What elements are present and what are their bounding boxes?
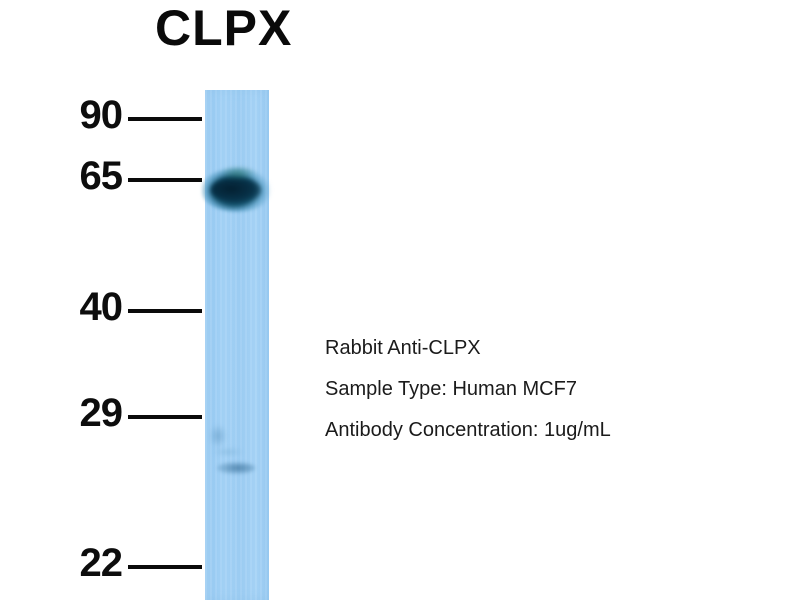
marker-tick-22 <box>128 565 202 569</box>
marker-label-29: 29 <box>80 393 123 433</box>
protein-band-65kda-core <box>211 178 261 202</box>
faint-band-middle <box>213 448 243 456</box>
marker-label-65: 65 <box>80 156 123 196</box>
faint-band-lower <box>217 462 255 474</box>
annotation-sample-type: Sample Type: Human MCF7 <box>325 369 755 410</box>
annotation-text-block: Rabbit Anti-CLPX Sample Type: Human MCF7… <box>325 328 755 451</box>
marker-tick-40 <box>128 309 202 313</box>
marker-tick-65 <box>128 178 202 182</box>
western-blot-figure: CLPX 90 65 40 29 22 Ra <box>0 0 800 600</box>
marker-label-22: 22 <box>80 543 123 583</box>
faint-band-upper <box>210 425 226 447</box>
annotation-antibody-concentration: Antibody Concentration: 1ug/mL <box>325 410 755 451</box>
protein-band-65kda-tint <box>221 166 255 180</box>
marker-label-40: 40 <box>80 287 123 327</box>
molecular-weight-ladder: 90 65 40 29 22 <box>0 0 210 600</box>
marker-tick-29 <box>128 415 202 419</box>
blot-lane <box>205 90 269 600</box>
marker-tick-90 <box>128 117 202 121</box>
annotation-antibody: Rabbit Anti-CLPX <box>325 328 755 369</box>
marker-label-90: 90 <box>80 95 123 135</box>
